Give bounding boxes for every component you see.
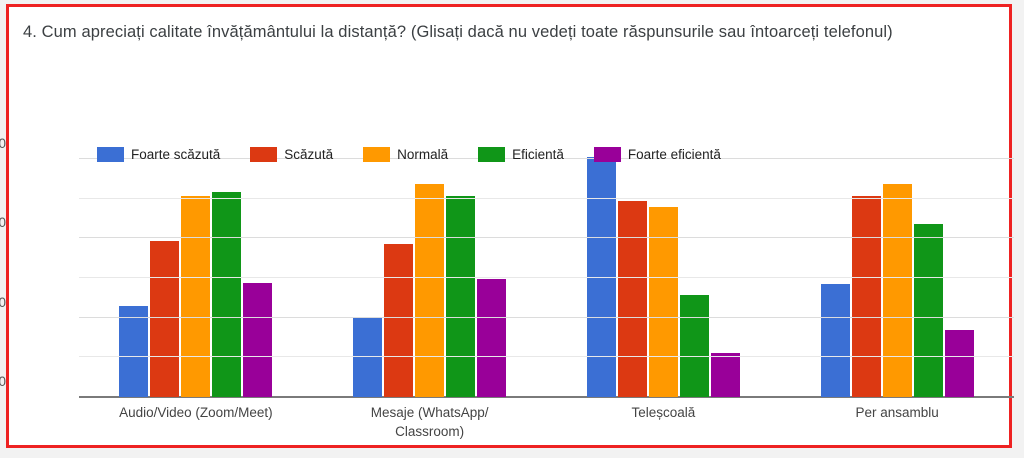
x-axis-label: Teleșcoală bbox=[547, 403, 781, 441]
y-axis-tick: 0 bbox=[0, 374, 6, 389]
y-axis-tick: 1,000 bbox=[0, 215, 6, 230]
gridline bbox=[79, 356, 1014, 357]
plot-area: 05001,0001,500 bbox=[79, 159, 1014, 397]
legend-label: Normală bbox=[397, 147, 448, 162]
bar-group bbox=[780, 159, 1014, 397]
y-axis-tick: 1,500 bbox=[0, 136, 6, 151]
bar[interactable] bbox=[821, 284, 850, 397]
x-axis-labels: Audio/Video (Zoom/Meet)Mesaje (WhatsApp/… bbox=[79, 403, 1014, 441]
bar[interactable] bbox=[212, 192, 241, 397]
bar-chart: Foarte scăzutăScăzutăNormalăEficientăFoa… bbox=[9, 103, 1009, 445]
bar[interactable] bbox=[150, 241, 179, 397]
bar[interactable] bbox=[618, 201, 647, 397]
bar[interactable] bbox=[680, 295, 709, 397]
bar-group bbox=[79, 159, 313, 397]
bar[interactable] bbox=[914, 224, 943, 397]
legend-item-4[interactable]: Foarte eficientă bbox=[594, 147, 721, 162]
legend-item-2[interactable]: Normală bbox=[363, 147, 448, 162]
bar[interactable] bbox=[711, 353, 740, 397]
legend-label: Eficientă bbox=[512, 147, 564, 162]
bar[interactable] bbox=[384, 244, 413, 397]
legend-swatch-icon bbox=[594, 147, 621, 162]
gridline bbox=[79, 237, 1014, 238]
legend-label: Foarte scăzută bbox=[131, 147, 220, 162]
bar[interactable] bbox=[446, 196, 475, 398]
bar-group bbox=[313, 159, 547, 397]
gridline bbox=[79, 277, 1014, 278]
bar[interactable] bbox=[649, 207, 678, 397]
bar[interactable] bbox=[477, 279, 506, 397]
legend-swatch-icon bbox=[478, 147, 505, 162]
bar[interactable] bbox=[415, 184, 444, 397]
bar-group bbox=[547, 159, 781, 397]
legend-swatch-icon bbox=[97, 147, 124, 162]
bar[interactable] bbox=[945, 330, 974, 397]
x-axis-label: Audio/Video (Zoom/Meet) bbox=[79, 403, 313, 441]
bar[interactable] bbox=[181, 196, 210, 398]
legend-item-1[interactable]: Scăzută bbox=[250, 147, 333, 162]
bar-groups bbox=[79, 159, 1014, 397]
legend-label: Scăzută bbox=[284, 147, 333, 162]
legend-item-3[interactable]: Eficientă bbox=[478, 147, 564, 162]
bar[interactable] bbox=[852, 196, 881, 397]
survey-question-card: 4. Cum apreciați calitate învățământului… bbox=[6, 4, 1012, 448]
gridline bbox=[79, 317, 1014, 318]
bar[interactable] bbox=[243, 283, 272, 397]
x-axis-label: Mesaje (WhatsApp/Classroom) bbox=[313, 403, 547, 441]
y-axis-tick: 500 bbox=[0, 295, 6, 310]
legend-swatch-icon bbox=[250, 147, 277, 162]
x-axis-label: Per ansamblu bbox=[780, 403, 1014, 441]
bar[interactable] bbox=[119, 306, 148, 397]
chart-legend: Foarte scăzutăScăzutăNormalăEficientăFoa… bbox=[97, 147, 751, 162]
bar[interactable] bbox=[883, 184, 912, 397]
legend-label: Foarte eficientă bbox=[628, 147, 721, 162]
gridline bbox=[79, 198, 1014, 199]
legend-item-0[interactable]: Foarte scăzută bbox=[97, 147, 220, 162]
question-title: 4. Cum apreciați calitate învățământului… bbox=[23, 17, 973, 47]
legend-swatch-icon bbox=[363, 147, 390, 162]
